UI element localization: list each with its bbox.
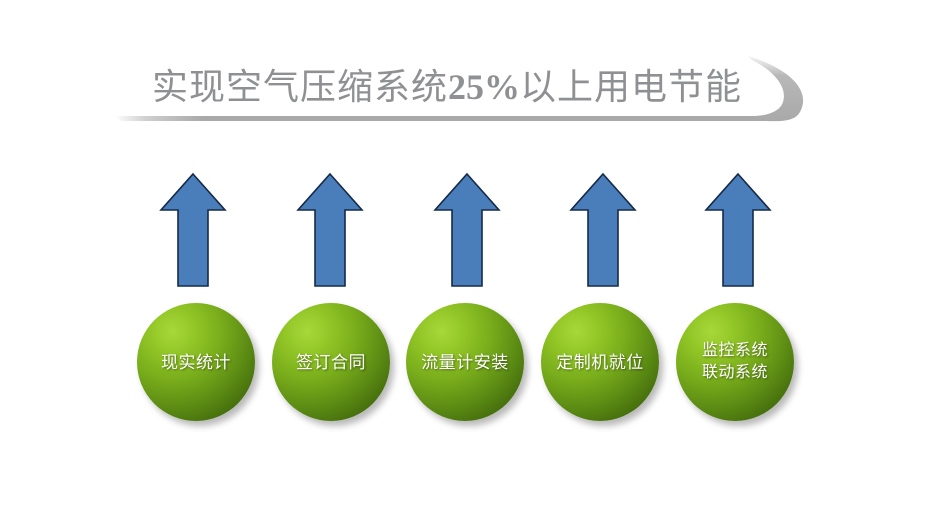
title-percent: 25% [448,67,520,107]
process-node-5[interactable]: 监控系统 联动系统 [676,303,794,421]
arrow-up-icon-1 [158,170,228,290]
process-node-label: 定制机就位 [552,352,648,373]
process-node-4[interactable]: 定制机就位 [541,303,659,421]
arrow-up-icon-2 [295,170,365,290]
arrow-up-icon-5 [703,170,773,290]
banner-bar [114,116,752,121]
process-node-label: 签订合同 [292,352,370,373]
process-node-label: 监控系统 联动系统 [698,340,772,384]
process-node-label: 流量计安装 [417,352,513,373]
arrow-up-icon-3 [432,170,502,290]
title-suffix: 以上用电节能 [520,67,742,107]
page-title: 实现空气压缩系统25%以上用电节能 [152,60,772,114]
process-node-1[interactable]: 现实统计 [137,303,255,421]
title-banner: 实现空气压缩系统25%以上用电节能 [112,28,812,148]
slide-canvas: 实现空气压缩系统25%以上用电节能 现实统计 签订合同 流量计安装 [0,0,945,529]
process-node-2[interactable]: 签订合同 [272,303,390,421]
arrow-up-icon-4 [568,170,638,290]
process-node-label: 现实统计 [157,352,235,373]
process-node-3[interactable]: 流量计安装 [406,303,524,421]
title-prefix: 实现空气压缩系统 [152,67,448,107]
